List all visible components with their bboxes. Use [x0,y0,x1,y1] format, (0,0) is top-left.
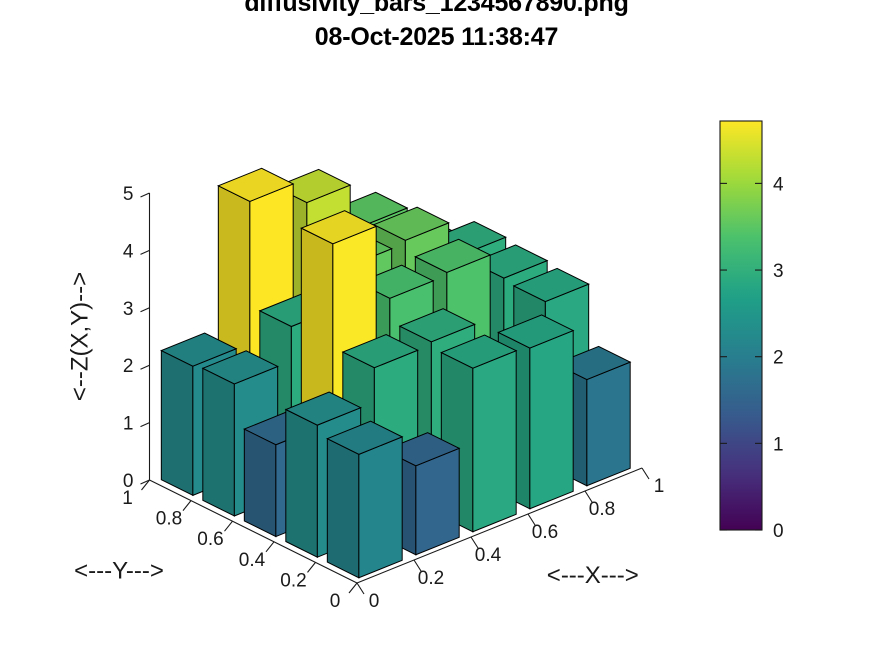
bar-face-front [530,331,573,509]
z-tick [141,193,150,197]
bar3-plot: 012345<--Z(X,Y)-->00.20.40.60.81<---X---… [0,0,873,655]
y-tick-label: 0 [330,591,341,612]
x-tick [357,583,364,594]
x-tick-label: 0.4 [475,545,502,566]
z-tick-label: 5 [123,184,134,205]
y-tick-label: 1 [122,488,133,509]
z-tick-label: 1 [123,414,134,435]
x-tick-label: 0.8 [589,499,615,520]
colorbar-tick-label: 3 [773,261,784,282]
y-tick [225,521,233,531]
z-axis-ticks: 012345 [123,184,150,492]
y-tick [349,583,357,593]
colorbar-tick-label: 4 [773,174,784,195]
bar-face-left [203,368,235,516]
bar-face-left [161,351,193,496]
x-axis-label: <---X---> [547,562,639,589]
colorbar-tick-label: 1 [773,434,784,455]
z-tick [141,365,150,369]
bar-face-left [327,439,359,578]
bar-face-front [359,437,402,578]
z-tick [141,423,150,427]
bar [327,421,402,578]
z-tick-label: 3 [123,299,134,320]
y-tick-label: 0.4 [239,550,266,571]
x-tick [642,468,649,479]
x-tick-label: 1 [654,476,665,497]
y-tick-label: 0.8 [156,509,182,530]
colorbar-gradient-rect [720,121,762,530]
bars-group [161,168,630,577]
bar-face-front [416,448,459,554]
bar-face-front [473,351,516,532]
bar-face-left [286,409,318,557]
y-tick-label: 0.2 [280,570,306,591]
z-axis-label: <--Z(X,Y)--> [67,272,94,401]
bar-face-front [587,362,630,486]
y-axis-label: <---Y---> [74,558,164,585]
z-tick-label: 4 [123,241,134,262]
z-tick-label: 2 [123,356,134,377]
colorbar-tick-label: 2 [773,348,784,369]
colorbar: 01234 [720,121,784,542]
y-tick [183,501,191,511]
bar-face-left [244,429,276,537]
x-tick-label: 0.6 [532,522,558,543]
x-tick-label: 0.2 [418,568,444,589]
z-tick [141,250,150,254]
y-tick-label: 0.6 [197,529,223,550]
y-tick [308,562,316,572]
y-tick [266,542,274,552]
x-tick-label: 0 [369,591,380,612]
z-tick [141,308,150,312]
colorbar-tick-label: 0 [773,521,784,542]
